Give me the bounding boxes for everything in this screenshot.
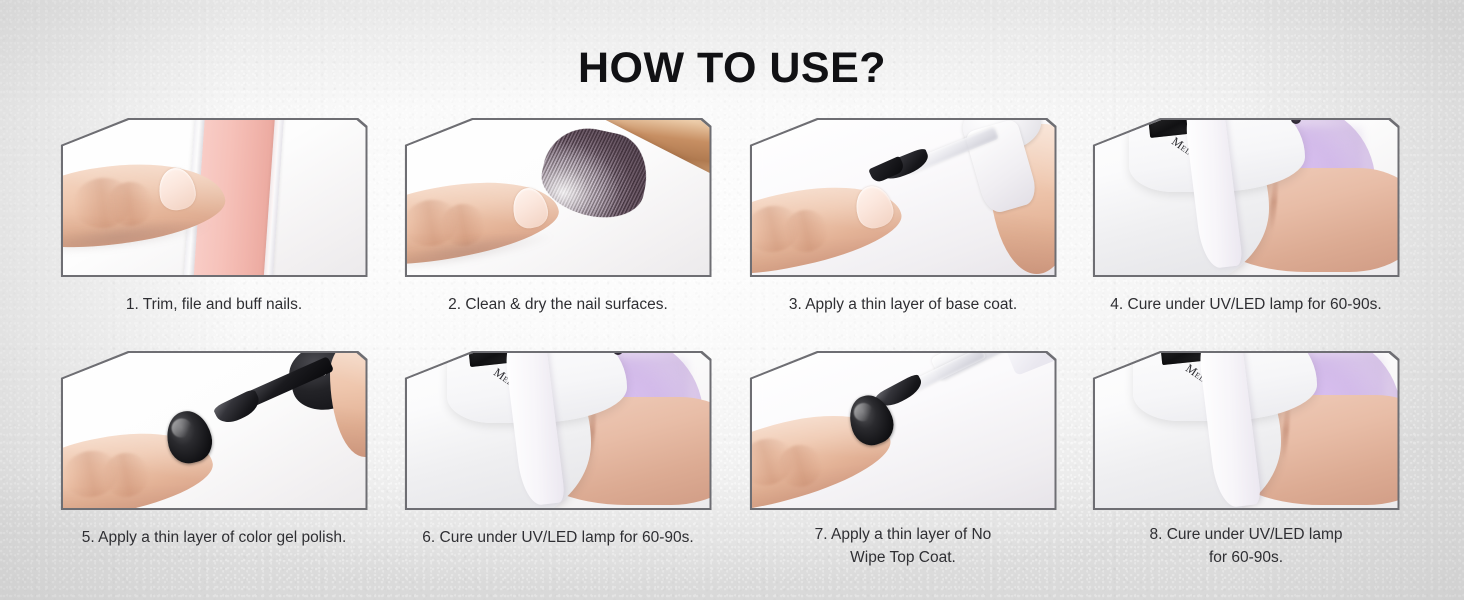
steps-row-2: BLACK bbox=[0, 351, 1464, 584]
step-caption-7: 7. Apply a thin layer of No Wipe Top Coa… bbox=[733, 523, 1073, 570]
step-photo-5: BLACK bbox=[61, 351, 368, 510]
step-photo-3 bbox=[750, 118, 1057, 277]
step-caption-4: 4. Cure under UV/LED lamp for 60-90s. bbox=[1076, 293, 1416, 316]
steps-grid: 1. Trim, file and buff nails. bbox=[0, 118, 1464, 584]
scene-hand-in-uv-lamp: MelodySusie bbox=[1095, 120, 1398, 275]
step-caption-3: 3. Apply a thin layer of base coat. bbox=[733, 293, 1073, 316]
step-photo-1 bbox=[61, 118, 368, 277]
scene-base-coat-brush-on-nail bbox=[752, 120, 1055, 275]
scene-black-gel-polish-on-nail: BLACK bbox=[63, 353, 366, 508]
step-card-5: BLACK bbox=[44, 351, 384, 549]
step-photo-6: MelodySusie bbox=[405, 351, 712, 510]
step-photo-2 bbox=[405, 118, 712, 277]
step-photo-8: MelodySusie bbox=[1093, 351, 1400, 510]
scene-finger-with-nail-file bbox=[63, 120, 366, 275]
scene-makeup-brush-dusting-finger bbox=[407, 120, 710, 275]
step-caption-2: 2. Clean & dry the nail surfaces. bbox=[388, 293, 728, 316]
scene-hand-in-uv-lamp: MelodySusie bbox=[407, 353, 710, 508]
step-card-8: MelodySusie 8. Cure under UV/LED lamp fo… bbox=[1076, 351, 1416, 570]
scene-hand-in-uv-lamp: MelodySusie bbox=[1095, 353, 1398, 508]
step-card-7: 7. Apply a thin layer of No Wipe Top Coa… bbox=[733, 351, 1073, 570]
step-caption-8: 8. Cure under UV/LED lamp for 60-90s. bbox=[1076, 523, 1416, 570]
step-photo-4: MelodySusie bbox=[1093, 118, 1400, 277]
step-card-2: 2. Clean & dry the nail surfaces. bbox=[388, 118, 728, 316]
step-card-6: MelodySusie 6. Cure under UV/LED lamp fo… bbox=[388, 351, 728, 549]
step-photo-7 bbox=[750, 351, 1057, 510]
step-caption-5: 5. Apply a thin layer of color gel polis… bbox=[44, 526, 384, 549]
step-caption-6: 6. Cure under UV/LED lamp for 60-90s. bbox=[388, 526, 728, 549]
steps-row-1: 1. Trim, file and buff nails. bbox=[0, 118, 1464, 351]
scene-top-coat-brush-on-black-nail bbox=[752, 353, 1055, 508]
how-to-use-infographic: HOW TO USE? bbox=[0, 0, 1464, 600]
step-card-3: 3. Apply a thin layer of base coat. bbox=[733, 118, 1073, 316]
page-title: HOW TO USE? bbox=[0, 44, 1464, 93]
step-card-4: MelodySusie 4. Cure under UV/LED lamp fo… bbox=[1076, 118, 1416, 316]
step-caption-1: 1. Trim, file and buff nails. bbox=[44, 293, 384, 316]
step-card-1: 1. Trim, file and buff nails. bbox=[44, 118, 384, 316]
